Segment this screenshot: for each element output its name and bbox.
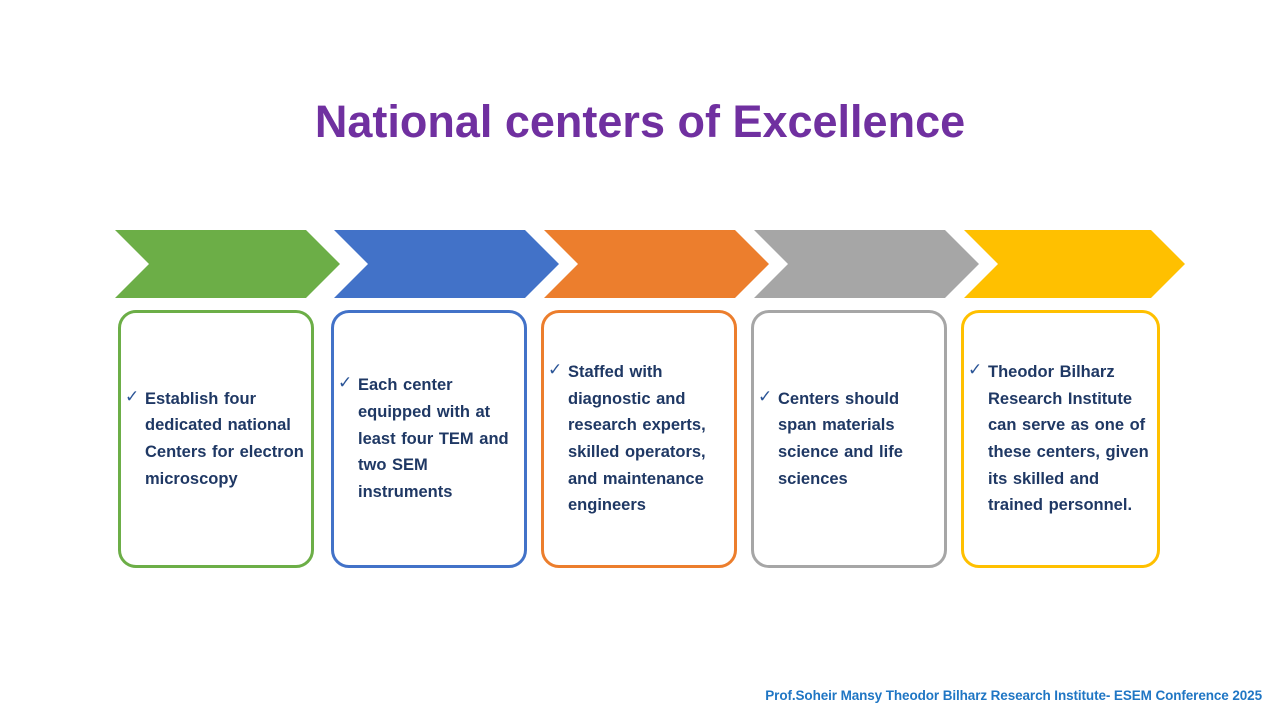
card-2: ✓ Each center equipped with at least fou… [331, 310, 527, 568]
card-1-content: ✓ Establish four dedicated national Cent… [125, 386, 305, 493]
check-icon: ✓ [548, 359, 568, 379]
chevron-step-2 [334, 230, 559, 298]
card-1-text: Establish four dedicated national Center… [145, 386, 305, 493]
card-3: ✓ Staffed with diagnostic and research e… [541, 310, 737, 568]
chevron-step-3 [544, 230, 769, 298]
check-icon: ✓ [338, 372, 358, 392]
card-row: ✓ Establish four dedicated national Cent… [118, 310, 1164, 568]
card-4: ✓ Centers should span materials science … [751, 310, 947, 568]
card-2-text: Each center equipped with at least four … [358, 372, 518, 506]
card-4-text: Centers should span materials science an… [778, 386, 938, 493]
card-5: ✓ Theodor Bilharz Research Institute can… [961, 310, 1160, 568]
check-icon: ✓ [968, 359, 988, 379]
card-3-text: Staffed with diagnostic and research exp… [568, 359, 728, 519]
chevron-step-4 [754, 230, 979, 298]
card-5-content: ✓ Theodor Bilharz Research Institute can… [968, 359, 1151, 519]
chevron-process-band [115, 230, 1185, 298]
check-icon: ✓ [758, 386, 778, 406]
card-4-content: ✓ Centers should span materials science … [758, 386, 938, 493]
chevron-step-5 [964, 230, 1185, 298]
card-3-content: ✓ Staffed with diagnostic and research e… [548, 359, 728, 519]
check-icon: ✓ [125, 386, 145, 406]
page-title: National centers of Excellence [0, 96, 1280, 148]
footer-attribution: Prof.Soheir Mansy Theodor Bilharz Resear… [765, 688, 1262, 703]
card-1: ✓ Establish four dedicated national Cent… [118, 310, 314, 568]
chevron-step-1 [115, 230, 340, 298]
card-5-text: Theodor Bilharz Research Institute can s… [988, 359, 1151, 519]
card-2-content: ✓ Each center equipped with at least fou… [338, 372, 518, 506]
slide-canvas: National centers of Excellence ✓ Establi… [0, 0, 1280, 720]
